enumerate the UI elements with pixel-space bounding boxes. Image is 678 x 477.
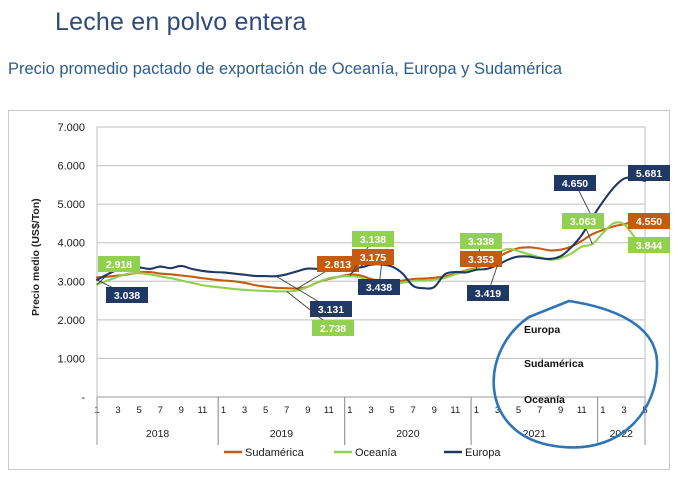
- chart-legend: SudaméricaOceaníaEuropa: [224, 447, 501, 459]
- x-axis-month-tick: 7: [537, 405, 542, 416]
- x-axis-month-tick: 9: [432, 405, 437, 416]
- data-label-3353: 3.353: [460, 251, 502, 268]
- data-label-3438: 3.438: [358, 264, 400, 295]
- callout-series-name: Oceanía: [524, 394, 565, 406]
- x-axis-month-tick: 11: [577, 405, 587, 416]
- x-axis-month-tick: 7: [411, 405, 416, 416]
- x-axis-month-tick: 1: [347, 405, 352, 416]
- label-value: 3.338: [468, 236, 494, 248]
- x-axis-month-tick: 5: [516, 405, 521, 416]
- x-axis-month-tick: 1: [600, 405, 605, 416]
- page-subtitle: Precio promedio pactado de exportación d…: [8, 60, 562, 79]
- x-axis-month-tick: 5: [137, 405, 142, 416]
- y-axis-tick-label: 5.000: [57, 199, 85, 211]
- callout-series-name: Europa: [524, 324, 560, 336]
- label-value: 2.918: [106, 259, 132, 271]
- page-title: Leche en polvo entera: [55, 8, 307, 37]
- label-value: 3.063: [570, 216, 596, 228]
- y-axis-tick-label: 6.000: [57, 161, 85, 173]
- x-axis-month-tick: 7: [158, 405, 163, 416]
- data-label-5681: 5.681: [628, 165, 670, 181]
- chart-frame: Precio medio (US$/Ton) 7.0006.0005.0004.…: [8, 110, 670, 470]
- x-axis-month-tick: 9: [558, 405, 563, 416]
- x-axis-year-label: 2020: [396, 428, 420, 440]
- x-axis-month-tick: 3: [115, 405, 120, 416]
- x-axis-month-tick: 11: [197, 405, 207, 416]
- label-value: 2.813: [325, 259, 351, 271]
- x-axis-month-tick: 1: [474, 405, 479, 416]
- y-axis-tick-label: 1.000: [57, 353, 85, 365]
- label-value: 3.419: [475, 288, 501, 300]
- price-line-chart: 7.0006.0005.0004.0003.0002.0001.000-1357…: [9, 111, 671, 471]
- x-axis-month-tick: 5: [263, 405, 268, 416]
- data-label-2813: 2.813: [297, 256, 359, 288]
- data-label-3038: 3.038: [97, 280, 148, 303]
- y-axis-tick-label: 7.000: [57, 122, 85, 134]
- data-label-3844: 3.844: [628, 237, 670, 253]
- legend-label: Sudamérica: [245, 447, 305, 459]
- x-axis-month-tick: 9: [179, 405, 184, 416]
- data-label-3131: 3.131: [276, 276, 352, 317]
- x-axis-year-label: 2018: [146, 428, 170, 440]
- x-axis-month-tick: 7: [284, 405, 289, 416]
- legend-label: Oceanía: [355, 447, 397, 459]
- label-value: 3.131: [318, 304, 344, 316]
- label-value: 3.175: [360, 252, 386, 264]
- x-axis-month-tick: 3: [621, 405, 626, 416]
- y-axis-tick-label: 2.000: [57, 315, 85, 327]
- x-axis-month-tick: 1: [221, 405, 226, 416]
- label-value: 3.138: [360, 234, 386, 246]
- legend-label: Europa: [465, 447, 501, 459]
- x-axis-month-tick: 3: [242, 405, 247, 416]
- label-value: 2.738: [320, 323, 346, 335]
- callout-series-name: Sudamérica: [524, 358, 584, 370]
- label-value: 3.038: [114, 290, 140, 302]
- data-label-4550: 4.550: [628, 213, 670, 229]
- label-value: 4.650: [562, 178, 588, 190]
- x-axis-month-tick: 11: [450, 405, 460, 416]
- x-axis-month-tick: 3: [368, 405, 373, 416]
- callout-outline: [494, 301, 657, 447]
- x-axis-month-tick: 5: [389, 405, 394, 416]
- data-label-2918: 2.918: [97, 256, 140, 284]
- label-value: 3.438: [366, 282, 392, 294]
- label-value: 3.353: [468, 254, 494, 266]
- x-axis-month-tick: 9: [305, 405, 310, 416]
- data-label-4650: 4.650: [554, 175, 596, 218]
- label-value: 5.681: [636, 168, 662, 180]
- label-value: 4.550: [636, 216, 662, 228]
- x-axis-year-label: 2019: [270, 428, 294, 440]
- y-axis-tick-label: -: [81, 392, 85, 404]
- label-value: 3.844: [636, 240, 662, 252]
- x-axis-month-tick: 11: [324, 405, 334, 416]
- summary-callout: EuropaSudaméricaOceanía: [494, 301, 657, 447]
- y-axis-tick-label: 4.000: [57, 238, 85, 250]
- slide-root: Leche en polvo entera Precio promedio pa…: [0, 0, 678, 477]
- y-axis-tick-label: 3.000: [57, 276, 85, 288]
